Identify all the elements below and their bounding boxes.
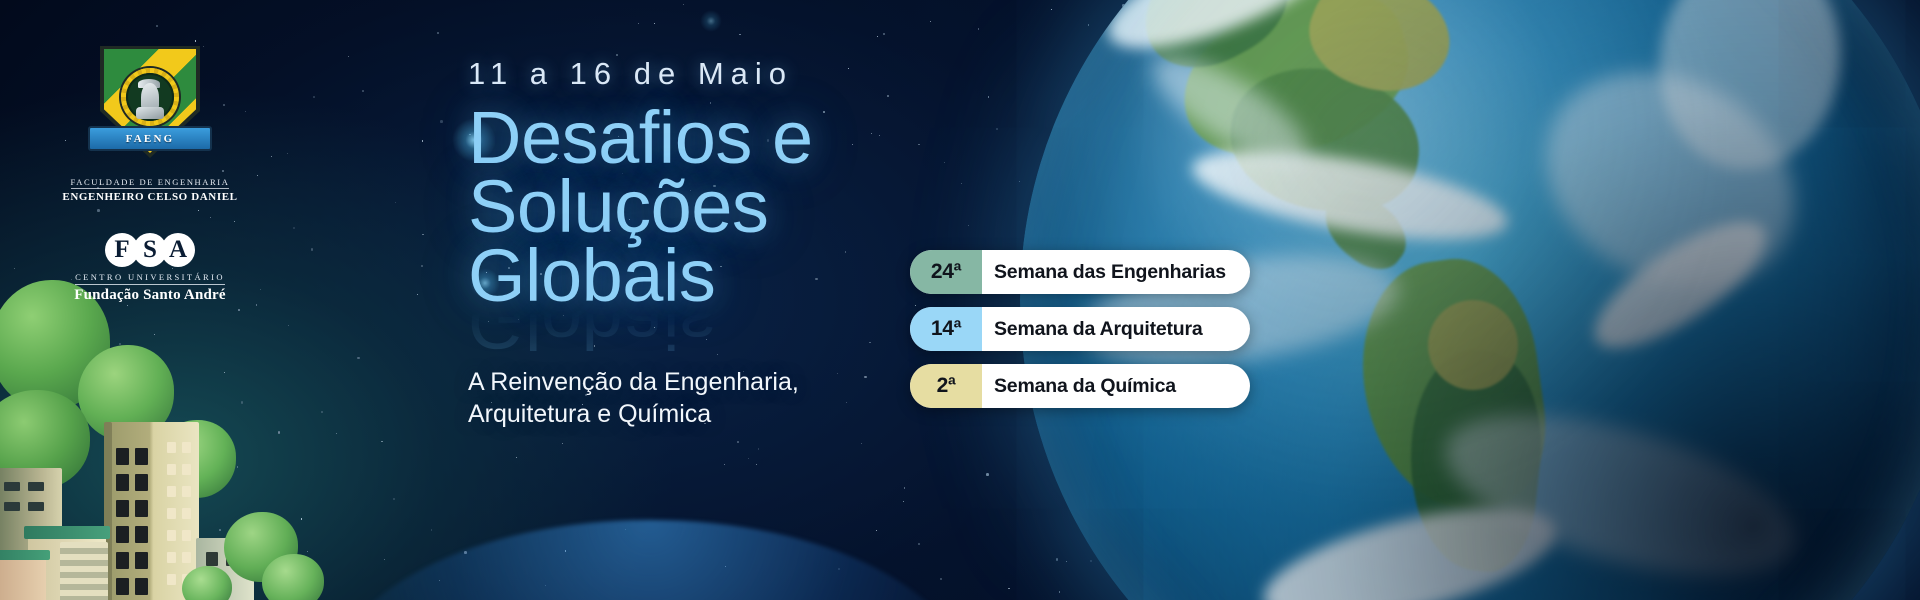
star xyxy=(940,578,943,581)
star xyxy=(1019,181,1020,182)
star xyxy=(393,498,395,500)
star xyxy=(986,473,989,476)
building xyxy=(196,538,254,600)
star xyxy=(417,294,418,295)
tree-foliage xyxy=(224,512,298,582)
gear-icon xyxy=(121,68,179,126)
star xyxy=(64,419,65,420)
title-reflection: Globais xyxy=(468,312,938,356)
star xyxy=(162,365,163,366)
tree-foliage xyxy=(182,566,232,600)
star xyxy=(996,128,999,131)
star xyxy=(654,23,655,24)
star xyxy=(159,423,161,425)
star xyxy=(1122,4,1125,7)
badge-quimica[interactable]: 2ª Semana da Química xyxy=(910,364,1250,408)
star xyxy=(49,539,50,540)
subtitle-line-2: Arquitetura e Química xyxy=(468,398,938,430)
star xyxy=(384,559,386,561)
star xyxy=(1190,561,1191,562)
star xyxy=(1059,591,1061,593)
building xyxy=(28,532,106,600)
star xyxy=(1051,9,1052,10)
star xyxy=(237,466,239,468)
fsa-name: Fundação Santo André xyxy=(74,287,226,304)
star xyxy=(739,34,741,36)
faeng-name: ENGENHEIRO CELSO DANIEL xyxy=(62,191,237,203)
star xyxy=(944,162,945,163)
faeng-caption: FACULDADE DE ENGENHARIA xyxy=(71,177,230,189)
star xyxy=(11,451,12,452)
star xyxy=(219,529,221,531)
star xyxy=(1070,480,1071,481)
star xyxy=(562,443,563,444)
star xyxy=(127,305,128,306)
tree-foliage xyxy=(0,390,90,490)
star xyxy=(1178,131,1179,132)
star xyxy=(758,448,760,450)
star xyxy=(1226,235,1229,238)
event-date: 11 a 16 de Maio xyxy=(468,56,938,92)
star xyxy=(440,120,443,123)
bottom-arc-glow xyxy=(330,520,970,600)
star xyxy=(1069,102,1071,104)
title-reflection-line: Globais xyxy=(468,312,938,356)
star xyxy=(278,431,281,434)
star xyxy=(1088,24,1090,26)
building xyxy=(0,556,46,600)
fsa-logo: F S A CENTRO UNIVERSITÁRIO Fundação Sant… xyxy=(0,233,300,304)
star xyxy=(930,21,931,22)
star xyxy=(357,357,360,360)
star xyxy=(988,96,990,98)
star xyxy=(904,487,906,489)
star xyxy=(1152,20,1153,21)
star xyxy=(1108,529,1109,530)
star xyxy=(724,464,725,465)
tree-foliage xyxy=(262,554,324,600)
star xyxy=(437,32,439,34)
star xyxy=(1152,87,1153,88)
star xyxy=(876,530,877,531)
glow-accent-top xyxy=(700,10,722,32)
star xyxy=(238,309,240,311)
star xyxy=(1090,487,1093,490)
star xyxy=(1066,561,1067,562)
star xyxy=(968,225,969,226)
star xyxy=(119,343,122,346)
badge-arquitetura[interactable]: 14ª Semana da Arquitetura xyxy=(910,307,1250,351)
tree-foliage xyxy=(156,420,236,498)
star xyxy=(1058,194,1059,195)
event-title: Desafios e Soluções Globais xyxy=(468,104,938,310)
star xyxy=(156,25,158,27)
fsa-caption: CENTRO UNIVERSITÁRIO xyxy=(75,272,225,285)
star xyxy=(422,140,423,141)
star xyxy=(321,411,323,413)
star xyxy=(1056,558,1059,561)
star xyxy=(154,334,155,335)
star xyxy=(103,355,104,356)
event-badges: 24ª Semana das Engenharias 14ª Semana da… xyxy=(910,250,1250,421)
event-banner: FAENG FACULDADE DE ENGENHARIA ENGENHEIRO… xyxy=(0,0,1920,600)
star xyxy=(1225,242,1226,243)
star xyxy=(1123,195,1124,196)
city-illustration xyxy=(0,270,330,600)
star xyxy=(288,325,289,326)
star xyxy=(69,323,70,324)
star xyxy=(861,443,862,444)
headline-block: 11 a 16 de Maio Desafios e Soluções Glob… xyxy=(468,56,938,430)
star xyxy=(1150,63,1151,64)
badge-number: 24ª xyxy=(910,250,982,294)
badge-label: Semana da Arquitetura xyxy=(982,307,1250,351)
star xyxy=(224,372,225,373)
faeng-logo: FAENG FACULDADE DE ENGENHARIA ENGENHEIRO… xyxy=(0,46,300,203)
star xyxy=(978,28,980,30)
star xyxy=(638,23,639,24)
faeng-ribbon-text: FAENG xyxy=(126,133,175,145)
star xyxy=(421,265,423,267)
badge-engenharias[interactable]: 24ª Semana das Engenharias xyxy=(910,250,1250,294)
star xyxy=(737,441,739,443)
star xyxy=(348,56,349,57)
star xyxy=(877,36,878,37)
star xyxy=(431,529,433,531)
star xyxy=(422,234,423,235)
star xyxy=(918,543,920,545)
badge-label: Semana das Engenharias xyxy=(982,250,1250,294)
star xyxy=(89,549,90,550)
star xyxy=(1212,15,1213,16)
star xyxy=(903,501,904,502)
star xyxy=(1161,572,1162,573)
star xyxy=(516,457,517,458)
star xyxy=(1132,592,1133,593)
fsa-letters-icon: F S A xyxy=(108,233,192,267)
title-line-3: Globais xyxy=(468,242,938,311)
star xyxy=(395,202,396,203)
star xyxy=(1008,588,1009,589)
badge-number: 2ª xyxy=(910,364,982,408)
star xyxy=(1064,442,1065,443)
star xyxy=(1090,560,1093,563)
star xyxy=(883,33,886,36)
star xyxy=(256,304,257,305)
tree-foliage xyxy=(78,345,174,441)
star xyxy=(1151,543,1152,544)
badge-label: Semana da Química xyxy=(982,364,1250,408)
star xyxy=(1103,132,1104,133)
star xyxy=(241,401,244,404)
star xyxy=(1225,146,1226,147)
faeng-ribbon: FAENG xyxy=(88,126,212,151)
star xyxy=(336,433,337,434)
star xyxy=(195,40,196,41)
building xyxy=(60,542,108,600)
star xyxy=(170,537,171,538)
fsa-letter-a: A xyxy=(161,233,195,267)
star xyxy=(193,520,194,521)
star xyxy=(301,518,302,519)
star xyxy=(1119,201,1120,202)
badge-number: 14ª xyxy=(910,307,982,351)
building xyxy=(104,422,199,600)
star xyxy=(961,183,962,184)
star xyxy=(313,96,315,98)
star xyxy=(73,424,75,426)
event-subtitle: A Reinvenção da Engenharia, Arquitetura … xyxy=(468,366,938,430)
logo-stack: FAENG FACULDADE DE ENGENHARIA ENGENHEIRO… xyxy=(0,46,300,304)
building xyxy=(0,468,62,600)
star xyxy=(683,4,684,5)
star xyxy=(748,458,749,459)
star xyxy=(86,400,88,402)
star xyxy=(307,551,308,552)
subtitle-line-1: A Reinvenção da Engenharia, xyxy=(468,366,938,398)
star xyxy=(756,464,757,465)
star xyxy=(61,392,63,394)
faeng-crest-icon: FAENG xyxy=(91,46,209,170)
star xyxy=(311,248,314,251)
title-line-2: Soluções xyxy=(468,173,938,242)
star xyxy=(362,90,364,92)
star xyxy=(1104,132,1105,133)
title-line-1: Desafios e xyxy=(468,104,938,173)
star xyxy=(1088,143,1090,145)
star xyxy=(381,441,382,442)
